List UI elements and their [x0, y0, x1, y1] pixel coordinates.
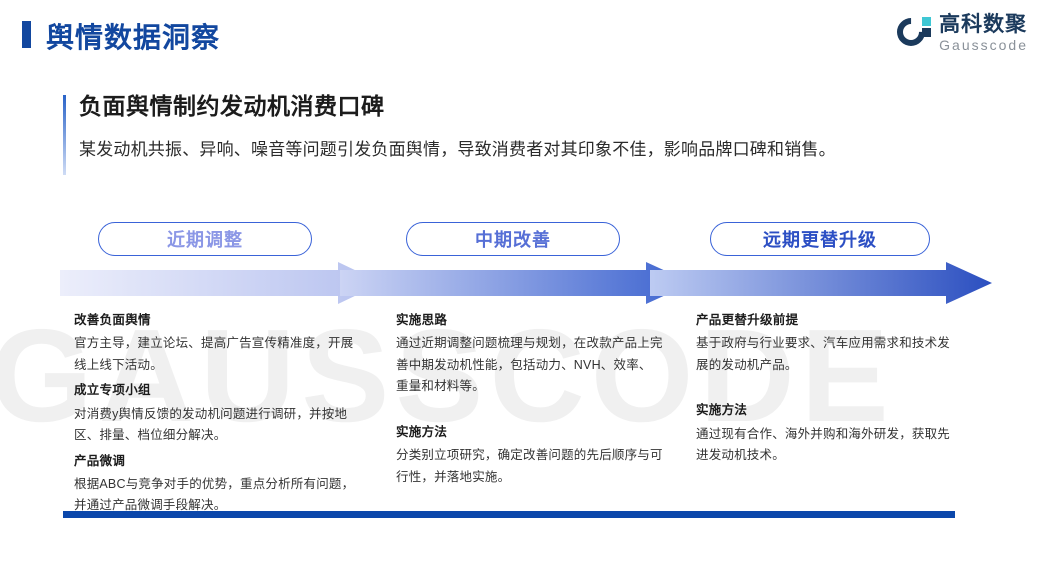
- block-heading: 产品微调: [74, 453, 364, 469]
- block-body: 通过现有合作、海外并购和海外研发，获取先进发动机技术。: [696, 424, 958, 467]
- content-block: 实施思路 通过近期调整问题梳理与规划，在改款产品上完善中期发动机性能，包括动力、…: [396, 312, 664, 398]
- gausscode-logo-icon: [897, 16, 931, 50]
- stage-pill-near-term[interactable]: 近期调整: [98, 222, 312, 256]
- stage-pill-long-term[interactable]: 远期更替升级: [710, 222, 930, 256]
- header-bullet-icon: [22, 21, 31, 48]
- block-heading: 实施方法: [396, 424, 664, 440]
- content-block: 实施方法 通过现有合作、海外并购和海外研发，获取先进发动机技术。: [696, 402, 958, 466]
- timeline-arrow-band: [0, 262, 1050, 304]
- stage-pill-row: 近期调整 中期改善 远期更替升级: [0, 222, 1050, 260]
- block-body: 分类别立项研究，确定改善问题的先后顺序与可行性，并落地实施。: [396, 445, 664, 488]
- lead-block: 负面舆情制约发动机消费口碑 某发动机共振、异响、噪音等问题引发负面舆情，导致消费…: [63, 92, 963, 162]
- page-title: 舆情数据洞察: [46, 16, 220, 56]
- column-long-term: 产品更替升级前提 基于政府与行业要求、汽车应用需求和技术发展的发动机产品。 实施…: [696, 312, 958, 473]
- slide-root: GAUSSCODE 舆情数据洞察 高科数聚 Gausscode 负面舆情制约发动…: [0, 0, 1050, 588]
- block-heading: 产品更替升级前提: [696, 312, 958, 328]
- slide-header: 舆情数据洞察 高科数聚 Gausscode: [0, 0, 1050, 68]
- block-heading: 实施方法: [696, 402, 958, 418]
- column-mid-term: 实施思路 通过近期调整问题梳理与规划，在改款产品上完善中期发动机性能，包括动力、…: [396, 312, 664, 494]
- block-body: 通过近期调整问题梳理与规划，在改款产品上完善中期发动机性能，包括动力、NVH、效…: [396, 333, 664, 398]
- block-heading: 实施思路: [396, 312, 664, 328]
- column-near-term: 改善负面舆情 官方主导，建立论坛、提高广告宣传精准度，开展线上线下活动。 成立专…: [74, 312, 364, 523]
- content-block: 成立专项小组 对消费y舆情反馈的发动机问题进行调研，并按地区、排量、档位细分解决…: [74, 382, 364, 446]
- stage-pill-mid-term[interactable]: 中期改善: [406, 222, 620, 256]
- content-block: 产品更替升级前提 基于政府与行业要求、汽车应用需求和技术发展的发动机产品。: [696, 312, 958, 376]
- content-block: 产品微调 根据ABC与竞争对手的优势，重点分析所有问题，并通过产品微调手段解决。: [74, 453, 364, 517]
- brand-name-cn: 高科数聚: [939, 14, 1028, 35]
- brand-logo: 高科数聚 Gausscode: [897, 14, 1028, 52]
- logo-square-navy-icon: [922, 28, 931, 37]
- content-block: 实施方法 分类别立项研究，确定改善问题的先后顺序与可行性，并落地实施。: [396, 424, 664, 488]
- arrow-segment-mid-term: [340, 262, 692, 304]
- brand-text: 高科数聚 Gausscode: [939, 14, 1028, 52]
- content-block: 改善负面舆情 官方主导，建立论坛、提高广告宣传精准度，开展线上线下活动。: [74, 312, 364, 376]
- block-heading: 成立专项小组: [74, 382, 364, 398]
- logo-square-teal-icon: [922, 17, 931, 26]
- arrow-band-svg: [0, 262, 1050, 304]
- brand-name-en: Gausscode: [939, 38, 1028, 52]
- lead-subtitle: 某发动机共振、异响、噪音等问题引发负面舆情，导致消费者对其印象不佳，影响品牌口碑…: [79, 138, 963, 162]
- arrow-segment-long-term: [650, 262, 992, 304]
- block-body: 对消费y舆情反馈的发动机问题进行调研，并按地区、排量、档位细分解决。: [74, 404, 364, 447]
- lead-title: 负面舆情制约发动机消费口碑: [79, 92, 963, 122]
- lead-accent-bar: [63, 95, 66, 175]
- block-heading: 改善负面舆情: [74, 312, 364, 328]
- block-body: 基于政府与行业要求、汽车应用需求和技术发展的发动机产品。: [696, 333, 958, 376]
- footer-bar: [63, 511, 955, 518]
- arrow-segment-near-term: [60, 262, 382, 304]
- block-body: 官方主导，建立论坛、提高广告宣传精准度，开展线上线下活动。: [74, 333, 364, 376]
